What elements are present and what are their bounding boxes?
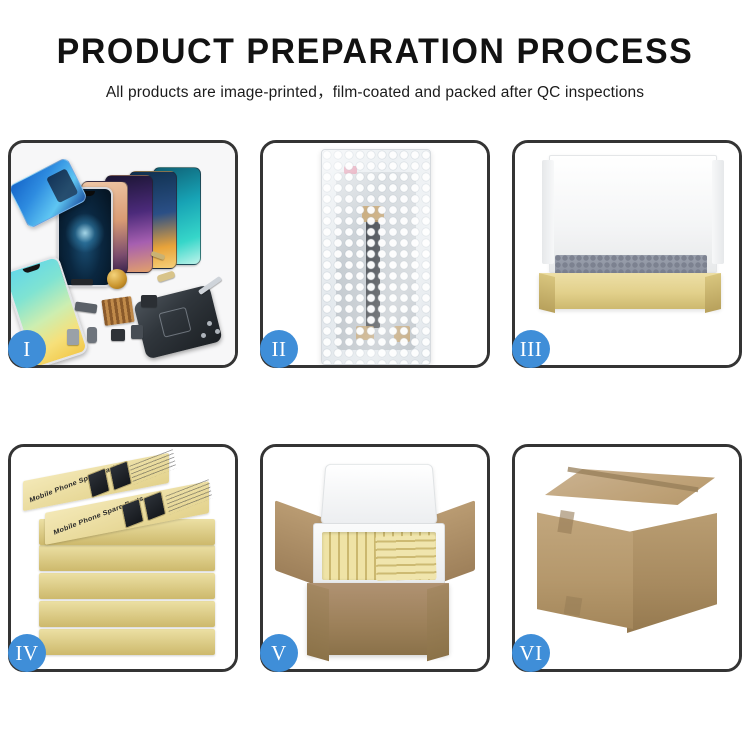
step-badge-5: V [260, 634, 298, 672]
process-step-panel-4: Mobile Phone Spare Parts Mobile Phone Sp… [8, 444, 238, 672]
screw-icon [215, 329, 220, 334]
bubble-wrapped-package-icon [321, 149, 431, 365]
phone-screen-fan-icon [57, 155, 232, 273]
process-step-panel-2: II [260, 140, 490, 368]
spare-part-icon [74, 302, 97, 314]
spare-part-icon [87, 327, 97, 343]
screw-icon [207, 321, 212, 326]
carton-front-face [537, 505, 633, 629]
page-header: PRODUCT PREPARATION PROCESS All products… [0, 0, 750, 102]
phone-graphic-icon [143, 491, 166, 522]
box-spec-lines-icon [129, 449, 176, 485]
process-step-panel-1: I [8, 140, 238, 368]
step-badge-3: III [512, 330, 550, 368]
spare-part-icon [71, 279, 93, 285]
spare-part-icon [111, 329, 125, 341]
kraft-box-tray-icon [539, 273, 721, 309]
open-carton-icon [307, 583, 449, 655]
grid-component-icon [101, 296, 134, 326]
spare-part-icon [131, 325, 143, 339]
copper-coil-icon [107, 269, 127, 289]
foam-cooler-body-icon [313, 523, 445, 591]
foam-cooler-lid-icon [320, 464, 437, 525]
step-badge-4: IV [8, 634, 46, 672]
page-subtitle: All products are image-printed，film-coat… [0, 80, 750, 102]
process-steps-grid: I II III [8, 140, 742, 672]
bubble-wrap-texture-icon [322, 150, 430, 364]
step-1-image [11, 143, 235, 365]
spare-part-icon [141, 295, 157, 307]
stacked-box-icon [39, 573, 215, 599]
box-stack-icon: Mobile Phone Spare Parts Mobile Phone Sp… [17, 461, 235, 661]
page-title: PRODUCT PREPARATION PROCESS [11, 34, 739, 71]
step-6-image [515, 447, 739, 669]
step-badge-2: II [260, 330, 298, 368]
carton-side-face [627, 513, 717, 633]
process-step-panel-5: V [260, 444, 490, 672]
sealed-carton-icon [537, 469, 723, 639]
packed-boxes-icon [376, 535, 437, 581]
spare-part-icon [67, 329, 79, 345]
step-badge-6: VI [512, 634, 550, 672]
process-step-panel-3: III [512, 140, 742, 368]
carton-tape-icon [564, 596, 583, 616]
step-3-image [515, 143, 739, 365]
stacked-box-icon [39, 545, 215, 571]
box-spec-lines-icon [165, 479, 212, 515]
step-5-image [263, 447, 487, 669]
step-4-image: Mobile Phone Spare Parts Mobile Phone Sp… [11, 447, 235, 669]
stacked-box-icon [39, 601, 215, 627]
process-step-panel-6: VI [512, 444, 742, 672]
screw-icon [201, 333, 206, 338]
step-badge-1: I [8, 330, 46, 368]
step-2-image [263, 143, 487, 365]
stacked-box-icon [39, 629, 215, 655]
